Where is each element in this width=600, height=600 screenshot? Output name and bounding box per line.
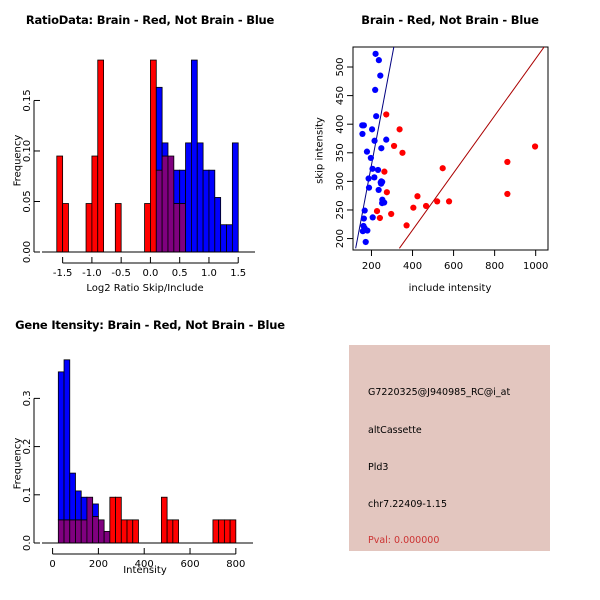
probe-id-text: G7220325@J940985_RC@i_at (368, 387, 510, 398)
svg-text:200: 200 (362, 261, 381, 272)
gene-intensity-plot: 0.00.10.20.30200400600800 (0, 300, 300, 600)
gene-info-background: G7220325@J940985_RC@i_at altCassette Pld… (349, 345, 550, 551)
svg-text:450: 450 (335, 86, 346, 105)
svg-text:1.5: 1.5 (230, 268, 246, 279)
event-type-text: altCassette (368, 425, 422, 436)
svg-text:0.1: 0.1 (22, 487, 33, 503)
svg-text:0.0: 0.0 (22, 535, 33, 551)
svg-text:-0.5: -0.5 (111, 268, 131, 279)
svg-text:200: 200 (89, 559, 108, 570)
ratio-histogram-panel: RatioData: Brain - Red, Not Brain - Blue… (0, 0, 300, 300)
svg-text:0.0: 0.0 (142, 268, 158, 279)
gene-symbol-text: Pld3 (368, 462, 388, 473)
svg-text:300: 300 (335, 172, 346, 191)
intensity-scatter-panel: Brain - Red, Not Brain - Blue skip inten… (300, 0, 600, 300)
locus-text: chr7.22409-1.15 (368, 499, 447, 510)
svg-text:200: 200 (335, 229, 346, 248)
svg-text:-1.0: -1.0 (82, 268, 102, 279)
svg-text:400: 400 (335, 115, 346, 134)
ratio-histogram-plot: 0.000.050.100.15-1.5-1.0-0.50.00.51.01.5 (0, 0, 300, 300)
pvalue-text: Pval: 0.000000 (368, 535, 439, 546)
svg-text:0: 0 (49, 559, 55, 570)
svg-text:-1.5: -1.5 (53, 268, 73, 279)
intensity-scatter-plot: 2002503003504004505002004006008001000 (300, 0, 600, 300)
svg-text:350: 350 (335, 143, 346, 162)
svg-text:0.5: 0.5 (172, 268, 188, 279)
svg-text:0.3: 0.3 (22, 390, 33, 406)
gene-intensity-panel: Gene Itensity: Brain - Red, Not Brain - … (0, 300, 300, 600)
svg-text:0.05: 0.05 (22, 190, 33, 212)
svg-text:600: 600 (180, 559, 199, 570)
svg-text:500: 500 (335, 57, 346, 76)
svg-text:400: 400 (403, 261, 422, 272)
svg-text:1000: 1000 (523, 261, 548, 272)
gene-info-panel: G7220325@J940985_RC@i_at altCassette Pld… (300, 300, 600, 600)
svg-text:0.2: 0.2 (22, 439, 33, 455)
svg-text:0.00: 0.00 (22, 241, 33, 263)
svg-text:800: 800 (226, 559, 245, 570)
svg-text:1.0: 1.0 (201, 268, 217, 279)
svg-text:600: 600 (444, 261, 463, 272)
svg-text:0.15: 0.15 (22, 89, 33, 111)
svg-text:250: 250 (335, 200, 346, 219)
svg-text:400: 400 (135, 559, 154, 570)
svg-text:0.10: 0.10 (22, 140, 33, 162)
svg-text:800: 800 (485, 261, 504, 272)
